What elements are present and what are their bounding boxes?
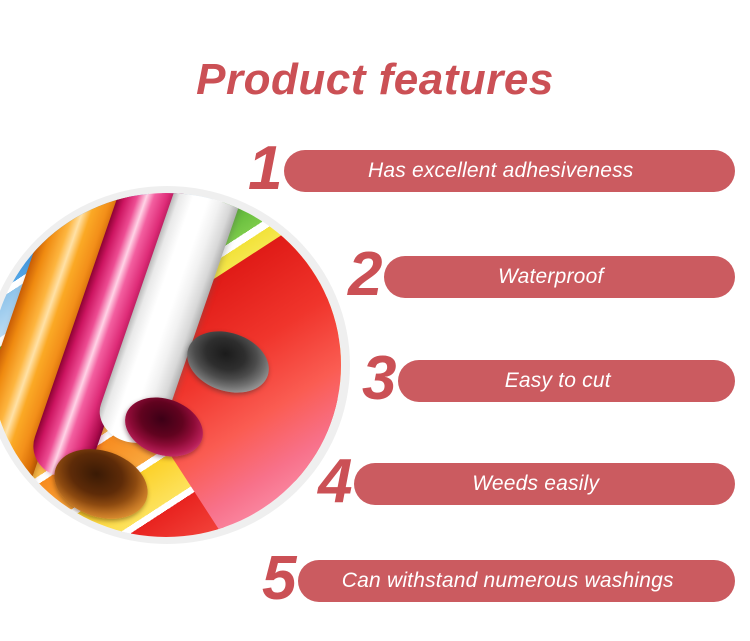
feature-pill: Waterproof [384, 256, 735, 298]
feature-label: Has excellent adhesiveness [284, 159, 735, 183]
feature-pill: Has excellent adhesiveness [284, 150, 735, 192]
feature-row: 5 Can withstand numerous washings [262, 558, 735, 604]
feature-row: 1 Has excellent adhesiveness [248, 148, 735, 194]
feature-number: 2 [348, 244, 382, 306]
feature-label: Can withstand numerous washings [298, 569, 735, 593]
feature-pill: Easy to cut [398, 360, 735, 402]
feature-label: Weeds easily [354, 472, 735, 496]
feature-label: Waterproof [384, 265, 735, 289]
product-features-infographic: Product features 1 Has excellent adhesiv… [0, 0, 750, 641]
feature-row: 3 Easy to cut [362, 358, 735, 404]
photo-clip [0, 193, 341, 537]
feature-number: 4 [318, 451, 352, 513]
feature-pill: Can withstand numerous washings [298, 560, 735, 602]
feature-number: 3 [362, 348, 396, 410]
feature-row: 4 Weeds easily [318, 461, 735, 507]
page-title: Product features [0, 55, 750, 105]
feature-pill: Weeds easily [354, 463, 735, 505]
feature-label: Easy to cut [398, 369, 735, 393]
colored-vinyl-rolls-photo [0, 186, 350, 544]
feature-row: 2 Waterproof [348, 254, 735, 300]
feature-number: 1 [248, 138, 282, 200]
feature-number: 5 [262, 548, 296, 610]
